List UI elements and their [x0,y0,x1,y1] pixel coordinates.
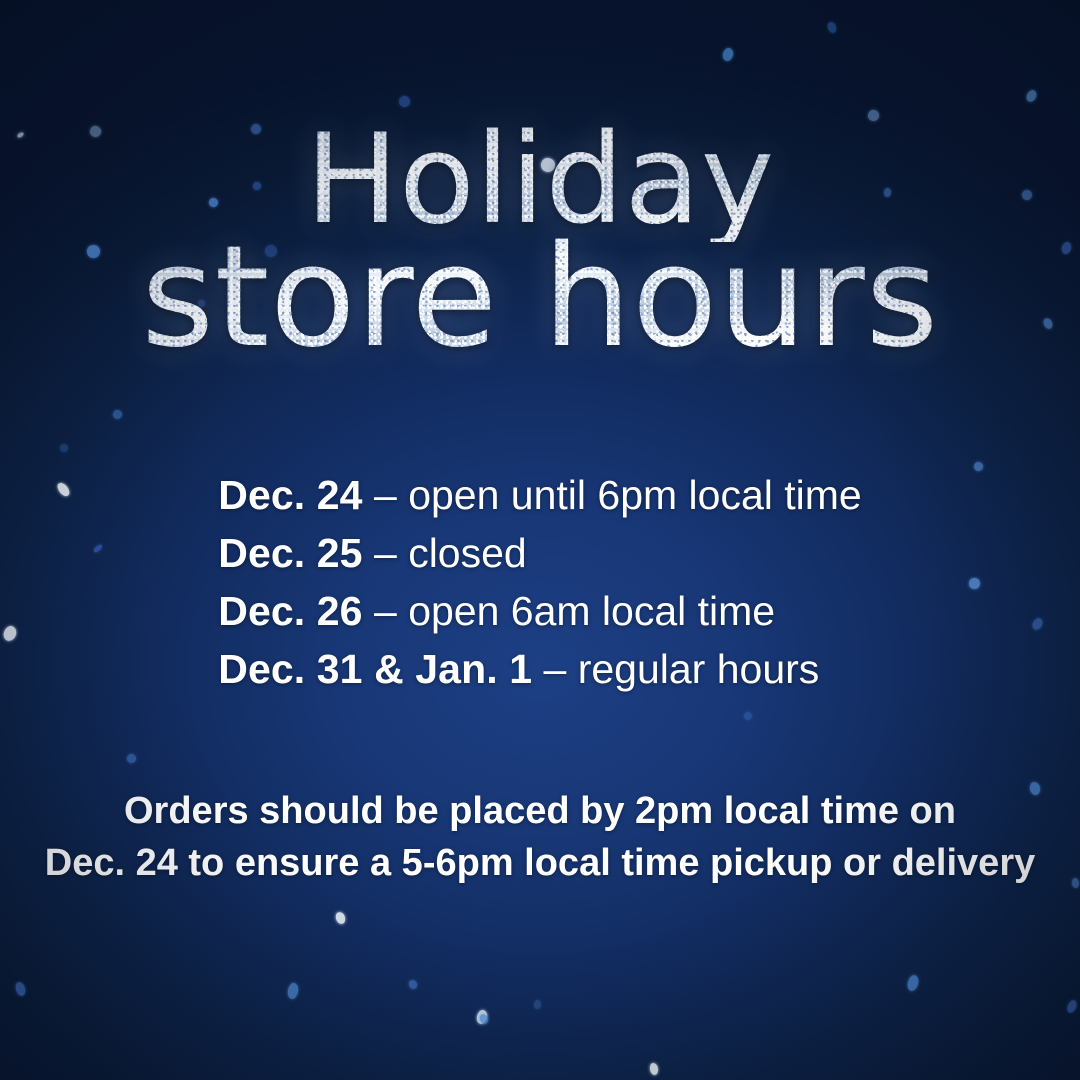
store-hours-separator: – [532,646,578,692]
store-hours-detail: regular hours [578,646,820,692]
confetti-flake [478,1013,489,1025]
headline: Holiday store hours [0,118,1080,368]
store-hours-separator: – [363,588,409,634]
confetti-flake [1025,89,1039,104]
store-hours-detail: open until 6pm local time [408,472,862,518]
confetti-flake [1066,999,1079,1014]
store-hours-row: Dec. 25 – closed [218,524,861,582]
confetti-flake [649,1062,659,1075]
store-hours-separator: – [363,472,409,518]
store-hours-detail: closed [408,530,527,576]
store-hours-list: Dec. 24 – open until 6pm local timeDec. … [0,466,1080,698]
confetti-flake [112,409,123,420]
store-hours-date: Dec. 26 [218,588,362,634]
store-hours-date: Dec. 24 [218,472,362,518]
store-hours-rows: Dec. 24 – open until 6pm local timeDec. … [218,466,861,698]
confetti-flake [407,979,418,991]
store-hours-separator: – [363,530,409,576]
order-deadline-note-line-1: Orders should be placed by 2pm local tim… [0,785,1080,837]
confetti-flake [743,711,752,720]
confetti-flake [534,1000,542,1010]
confetti-flake [126,753,137,764]
confetti-flake [287,982,300,999]
store-hours-row: Dec. 26 – open 6am local time [218,582,861,640]
confetti-flake [721,47,734,62]
holiday-hours-poster: Holiday store hours Dec. 24 – open until… [0,0,1080,1080]
order-deadline-note-line-2: Dec. 24 to ensure a 5-6pm local time pic… [0,837,1080,889]
confetti-flake [60,444,69,453]
store-hours-row: Dec. 24 – open until 6pm local time [218,466,861,524]
store-hours-detail: open 6am local time [408,588,775,634]
store-hours-date: Dec. 25 [218,530,362,576]
confetti-flake [906,974,920,992]
confetti-flake [397,94,412,109]
confetti-flake [826,21,838,34]
store-hours-date: Dec. 31 & Jan. 1 [218,646,532,692]
store-hours-row: Dec. 31 & Jan. 1 – regular hours [218,640,861,698]
confetti-flake [334,911,347,925]
confetti-flake [14,981,27,997]
headline-line-2: store hours [0,228,1080,368]
confetti-flake [475,1009,488,1025]
order-deadline-note: Orders should be placed by 2pm local tim… [0,785,1080,889]
